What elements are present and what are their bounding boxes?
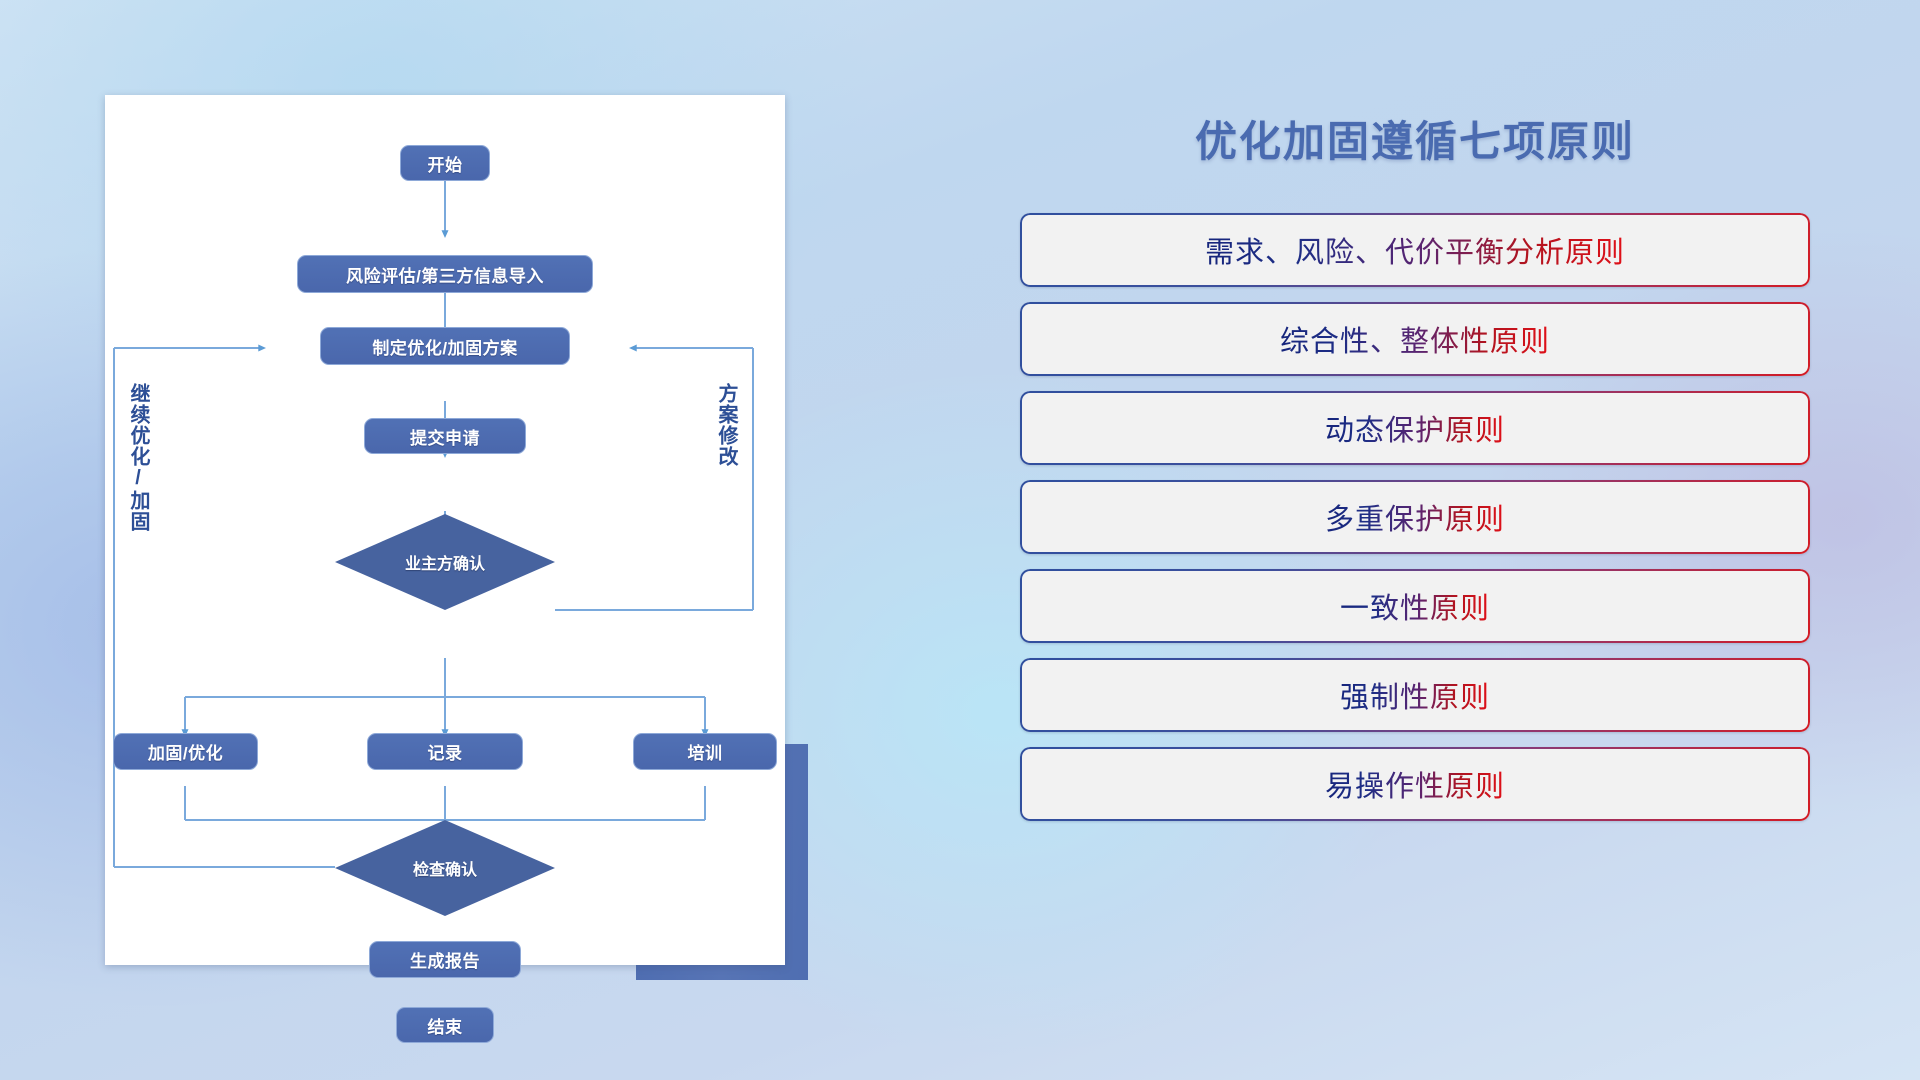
node-risk-assessment[interactable]: 风险评估/第三方信息导入 (297, 255, 593, 293)
node-generate-report[interactable]: 生成报告 (369, 941, 521, 978)
decision-check-confirm[interactable]: 检查确认 (335, 820, 555, 916)
node-make-plan-label: 制定优化/加固方案 (372, 334, 517, 359)
principle-label: 需求、风险、代价平衡分析原则 (1205, 229, 1625, 271)
principle-label: 易操作性原则 (1325, 763, 1505, 805)
node-record-label: 记录 (428, 739, 463, 764)
flowchart-card: 开始 风险评估/第三方信息导入 制定优化/加固方案 提交申请 业主方确认 加固/… (105, 95, 785, 965)
principle-item-6[interactable]: 强制性原则 (1020, 658, 1810, 732)
principle-label: 综合性、整体性原则 (1280, 318, 1550, 360)
principle-item-3[interactable]: 动态保护原则 (1020, 391, 1810, 465)
node-end[interactable]: 结束 (396, 1007, 494, 1043)
node-risk-assessment-label: 风险评估/第三方信息导入 (346, 262, 544, 287)
principle-label: 强制性原则 (1340, 674, 1490, 716)
node-end-label: 结束 (428, 1013, 463, 1038)
principle-item-4[interactable]: 多重保护原则 (1020, 480, 1810, 554)
slide-canvas: 开始 风险评估/第三方信息导入 制定优化/加固方案 提交申请 业主方确认 加固/… (0, 0, 1920, 1080)
principle-item-2[interactable]: 综合性、整体性原则 (1020, 302, 1810, 376)
principle-item-5[interactable]: 一致性原则 (1020, 569, 1810, 643)
node-training[interactable]: 培训 (633, 733, 777, 770)
decision-owner-confirm[interactable]: 业主方确认 (335, 514, 555, 610)
node-training-label: 培训 (688, 739, 723, 764)
principle-item-1[interactable]: 需求、风险、代价平衡分析原则 (1020, 213, 1810, 287)
node-start[interactable]: 开始 (400, 145, 490, 181)
decision-owner-confirm-label: 业主方确认 (405, 550, 485, 574)
principles-panel: 优化加固遵循七项原则 需求、风险、代价平衡分析原则 综合性、整体性原则 动态保护… (1020, 108, 1810, 836)
loop-label-left: 继续优化/加固 (127, 383, 148, 532)
node-make-plan[interactable]: 制定优化/加固方案 (320, 327, 570, 365)
loop-label-right: 方案修改 (715, 383, 736, 467)
node-reinforce-optimize[interactable]: 加固/优化 (113, 733, 258, 770)
node-start-label: 开始 (428, 151, 463, 176)
principle-item-7[interactable]: 易操作性原则 (1020, 747, 1810, 821)
node-submit-application[interactable]: 提交申请 (364, 418, 526, 454)
node-submit-application-label: 提交申请 (410, 424, 480, 449)
principle-label: 动态保护原则 (1325, 407, 1505, 449)
principle-label: 一致性原则 (1340, 585, 1490, 627)
decision-check-confirm-label: 检查确认 (413, 856, 477, 880)
node-generate-report-label: 生成报告 (410, 947, 480, 972)
node-record[interactable]: 记录 (367, 733, 523, 770)
principle-label: 多重保护原则 (1325, 496, 1505, 538)
principles-title: 优化加固遵循七项原则 (1020, 108, 1810, 169)
node-reinforce-optimize-label: 加固/优化 (148, 739, 223, 764)
